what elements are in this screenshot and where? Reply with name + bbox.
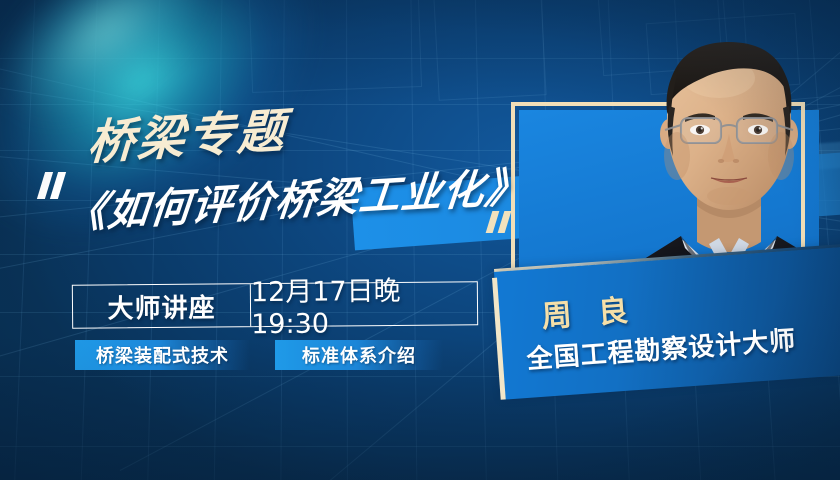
webinar-poster: 周 良 全国工程勘察设计大师 桥梁专题 《如何评价桥梁工业化》 大师讲座 12月… — [0, 0, 840, 480]
topic-tag-label: 桥梁装配式技术 — [96, 342, 229, 368]
topic-tag-label: 标准体系介绍 — [302, 342, 416, 368]
topic-tag: 桥梁装配式技术 — [75, 340, 250, 370]
vignette-overlay — [0, 0, 840, 480]
